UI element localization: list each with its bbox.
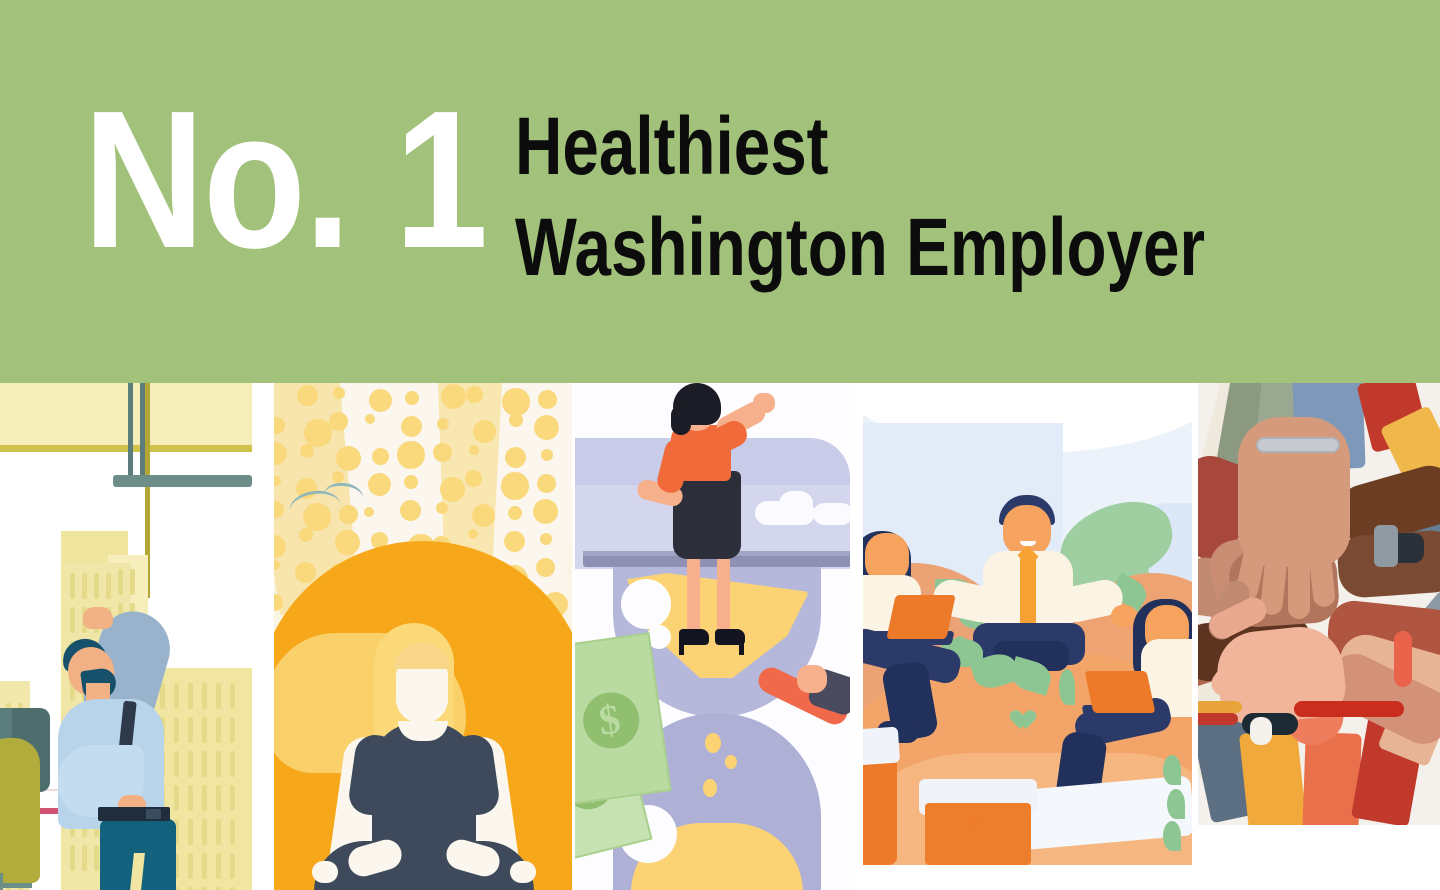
rank-text: No. 1 bbox=[83, 82, 487, 278]
panel-office-stretch bbox=[0, 383, 252, 890]
headline-line-1: Healthiest bbox=[515, 96, 1205, 197]
headline-line-2: Washington Employer bbox=[515, 197, 1205, 298]
headline-title: Healthiest Washington Employer bbox=[515, 96, 1205, 298]
panel-office-meditation bbox=[863, 383, 1192, 865]
panel-hourglass-money: $ $ bbox=[575, 383, 850, 890]
panel-meditation-sunrise bbox=[274, 383, 572, 890]
award-banner: No. 1 Healthiest Washington Employer bbox=[0, 0, 1440, 890]
headline-band: No. 1 Healthiest Washington Employer bbox=[0, 0, 1440, 383]
photo-strip: $ $ bbox=[0, 383, 1440, 890]
panel-hands-together bbox=[1198, 383, 1440, 825]
